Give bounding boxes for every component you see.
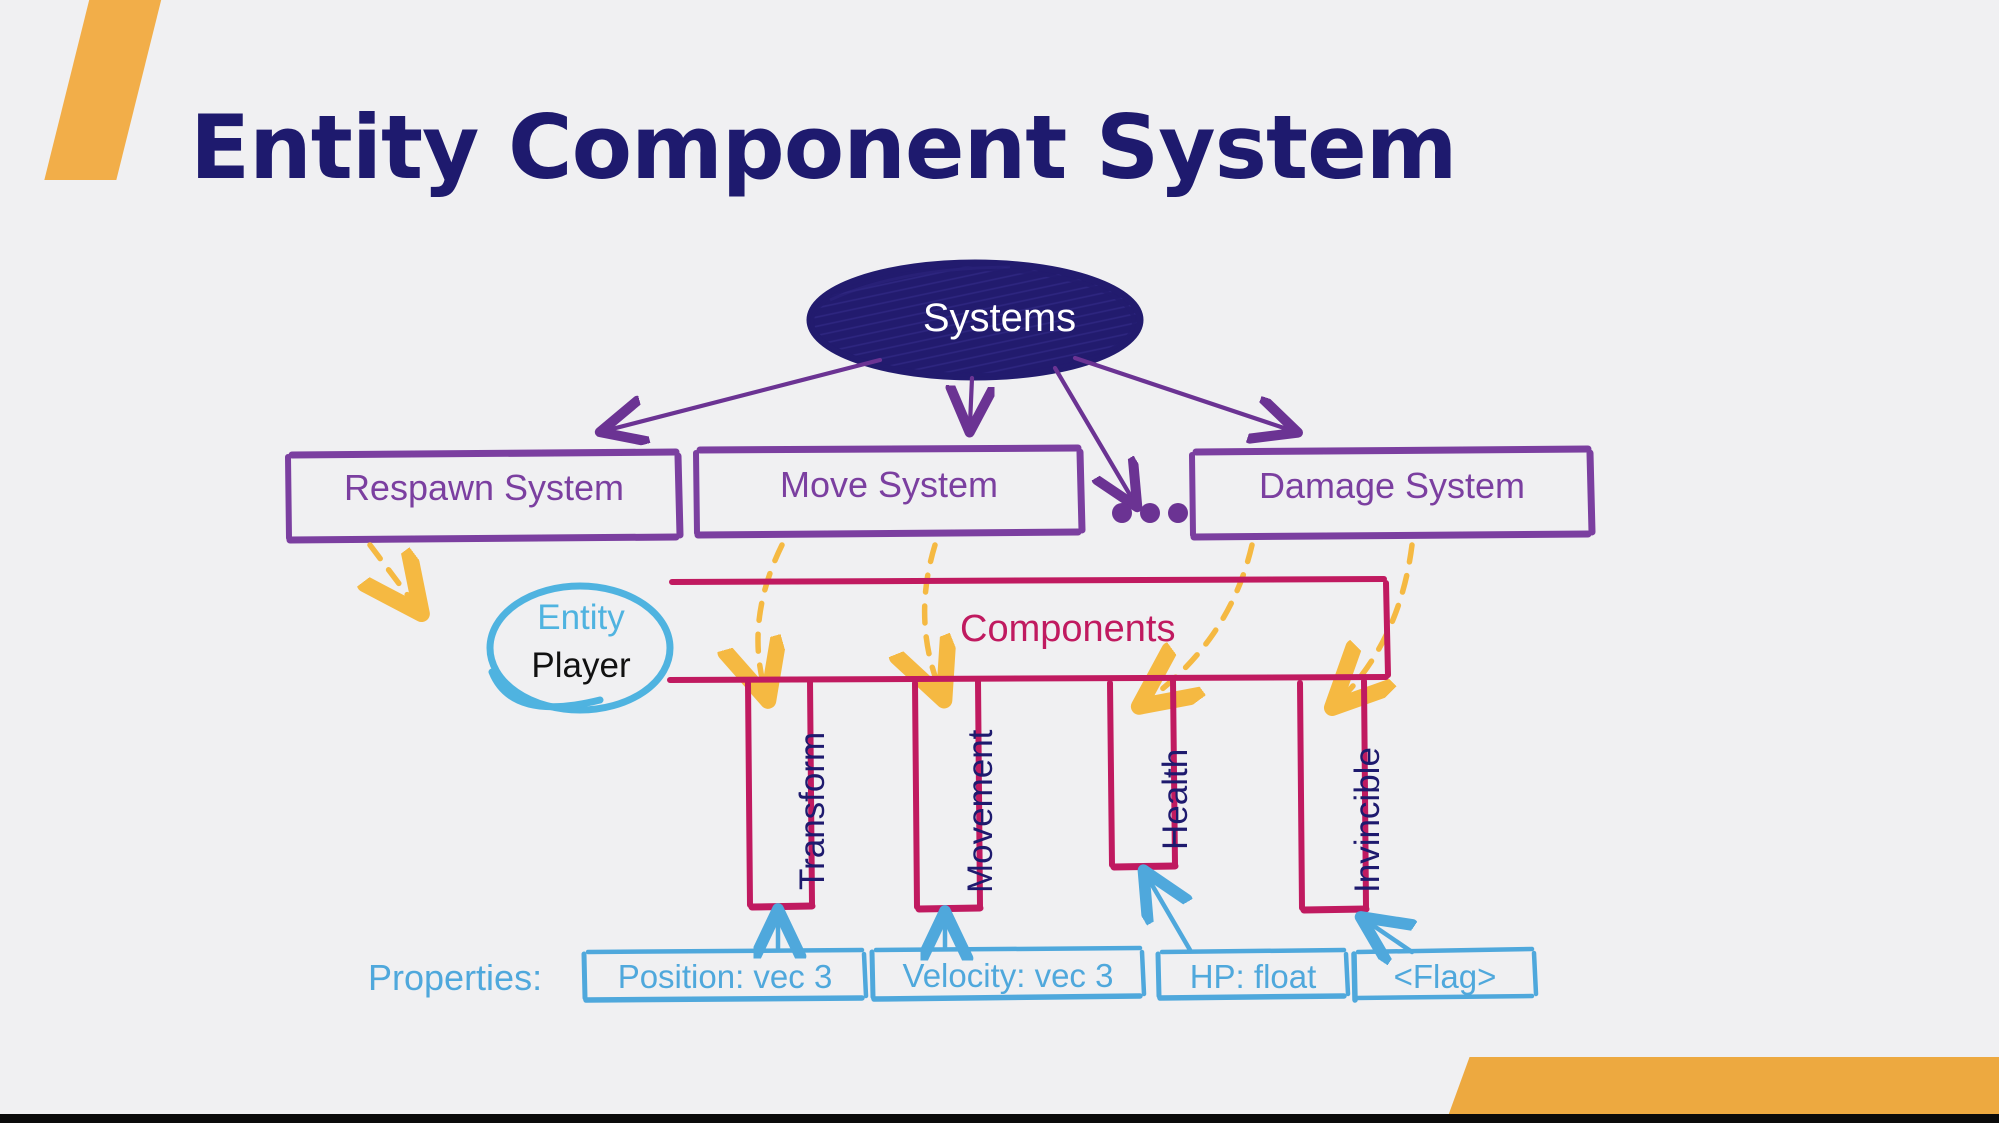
component-boxes-outline	[748, 681, 1366, 910]
systems-label: Systems	[0, 298, 1999, 338]
system-box-label-move[interactable]: Move System	[696, 467, 1082, 503]
component-label-movement[interactable]: Movement	[963, 730, 998, 893]
property-box-position[interactable]: Position: vec 3	[584, 960, 866, 993]
component-label-transform[interactable]: Transform	[795, 732, 830, 890]
dashed-arrow-respawn	[370, 545, 415, 605]
dashed-arrow-move-movement	[925, 545, 940, 690]
property-box-flag[interactable]: <Flag>	[1354, 960, 1536, 993]
components-title: Components	[960, 610, 1175, 648]
diagram-vector-layer	[0, 0, 1999, 1123]
systems-ellipsis-dots	[1112, 503, 1188, 523]
component-label-health[interactable]: Health	[1158, 749, 1193, 850]
system-box-label-respawn[interactable]: Respawn System	[288, 470, 680, 506]
dashed-arrow-move-transform	[758, 545, 782, 690]
property-to-component-arrows	[778, 878, 1412, 952]
property-box-velocity[interactable]: Velocity: vec 3	[872, 959, 1144, 992]
component-label-invincible[interactable]: Invincible	[1350, 747, 1385, 893]
entity-kind-label: Entity	[516, 600, 646, 635]
entity-name-label: Player	[516, 648, 646, 683]
properties-title: Properties:	[368, 960, 542, 996]
system-box-label-damage[interactable]: Damage System	[1192, 468, 1592, 504]
property-box-hp[interactable]: HP: float	[1158, 960, 1348, 993]
slide-canvas: Entity Component System	[0, 0, 1999, 1123]
